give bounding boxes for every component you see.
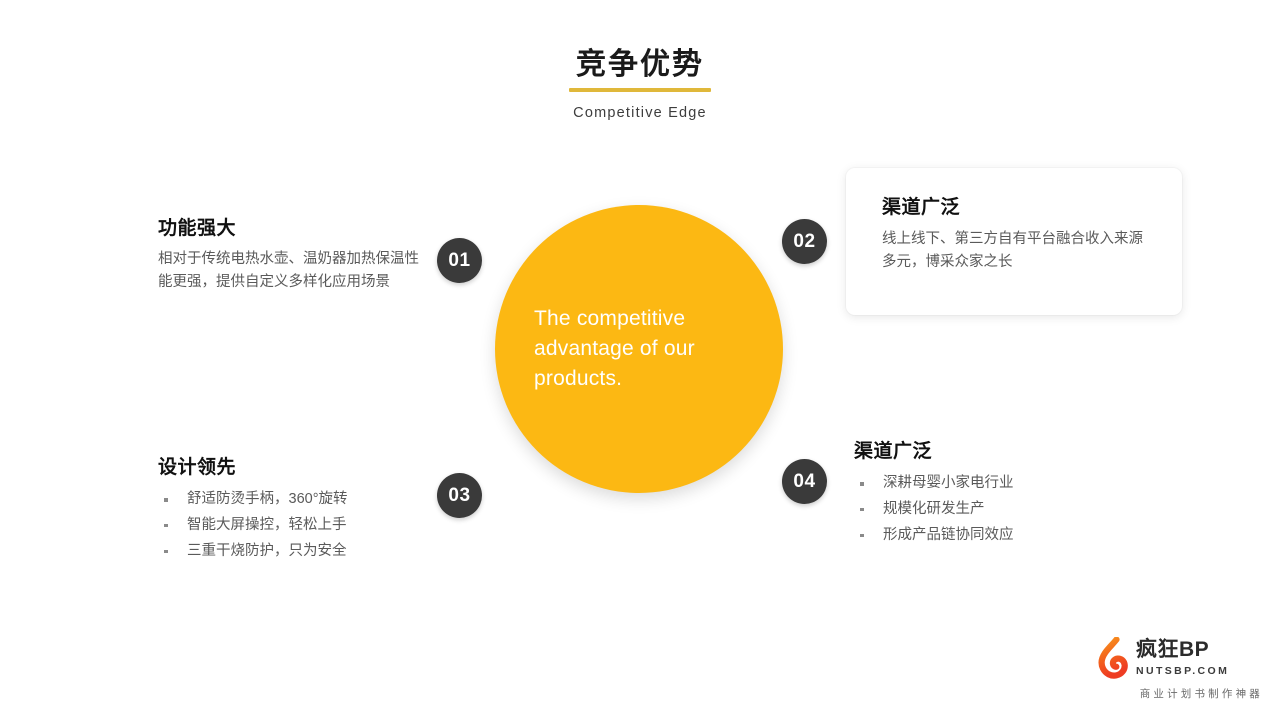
logo-text-column: 疯狂BP NUTSBP.COM <box>1136 639 1229 676</box>
logo-tagline: 商业计划书制作神器 <box>1096 686 1264 701</box>
feature-heading-01: 功能强大 <box>158 213 430 240</box>
feature-block-03: 设计领先 舒适防烫手柄，360°旋转 智能大屏操控，轻松上手 三重干烧防护，只为… <box>158 452 433 564</box>
feature-heading-02: 渠道广泛 <box>882 192 1154 219</box>
list-item: 三重干烧防护，只为安全 <box>158 539 433 565</box>
logo-row: 疯狂BP NUTSBP.COM <box>1096 636 1264 680</box>
logo-domain: NUTSBP.COM <box>1136 665 1229 677</box>
number-badge-01: 01 <box>437 238 482 283</box>
logo-brand: 疯狂BP <box>1136 639 1229 661</box>
feature-body-01: 相对于传统电热水壶、温奶器加热保温性能更强，提供自定义多样化应用场景 <box>158 248 430 295</box>
flame-icon <box>1096 637 1130 679</box>
list-item: 形成产品链协同效应 <box>854 523 1154 549</box>
slide-header: 竞争优势 Competitive Edge <box>0 48 1280 121</box>
feature-card-02: 渠道广泛 线上线下、第三方自有平台融合收入来源多元，博采众家之长 <box>846 168 1182 315</box>
feature-block-01: 功能强大 相对于传统电热水壶、温奶器加热保温性能更强，提供自定义多样化应用场景 <box>158 213 430 295</box>
number-badge-02: 02 <box>782 219 827 264</box>
footer-logo: 疯狂BP NUTSBP.COM 商业计划书制作神器 <box>1096 636 1264 704</box>
feature-heading-04: 渠道广泛 <box>854 436 1154 463</box>
list-item: 深耕母婴小家电行业 <box>854 471 1154 497</box>
list-item: 智能大屏操控，轻松上手 <box>158 513 433 539</box>
feature-bullets-04: 深耕母婴小家电行业 规模化研发生产 形成产品链协同效应 <box>854 471 1154 548</box>
feature-body-02: 线上线下、第三方自有平台融合收入来源多元，博采众家之长 <box>882 228 1154 275</box>
center-circle-text: The competitive advantage of our product… <box>534 304 744 393</box>
feature-block-04: 渠道广泛 深耕母婴小家电行业 规模化研发生产 形成产品链协同效应 <box>854 436 1154 548</box>
list-item: 规模化研发生产 <box>854 497 1154 523</box>
feature-heading-03: 设计领先 <box>158 452 433 479</box>
number-badge-04: 04 <box>782 459 827 504</box>
title-underline-rule <box>569 88 711 92</box>
list-item: 舒适防烫手柄，360°旋转 <box>158 487 433 513</box>
center-circle: The competitive advantage of our product… <box>495 205 783 493</box>
page-title: 竞争优势 <box>0 48 1280 83</box>
page-subtitle: Competitive Edge <box>0 105 1280 121</box>
number-badge-03: 03 <box>437 473 482 518</box>
feature-bullets-03: 舒适防烫手柄，360°旋转 智能大屏操控，轻松上手 三重干烧防护，只为安全 <box>158 487 433 564</box>
